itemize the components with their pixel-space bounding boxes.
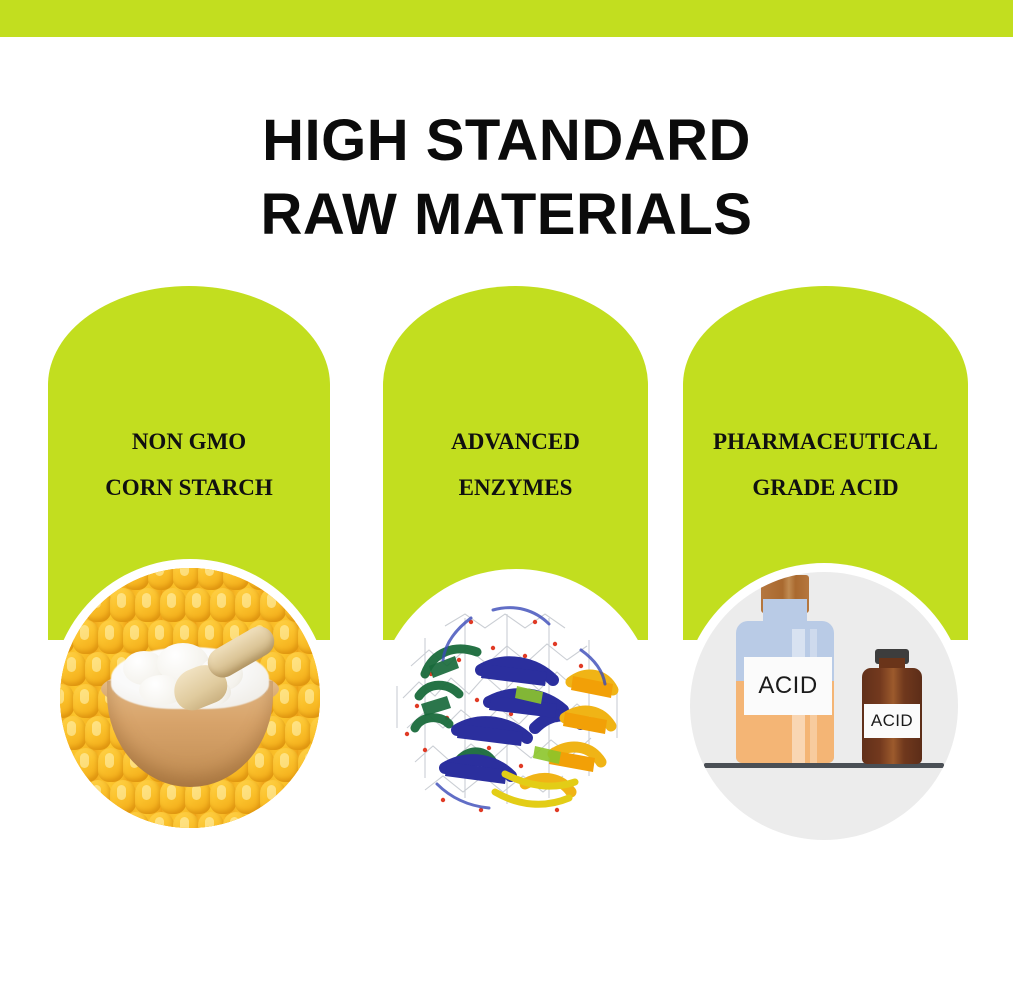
corn-kernel <box>248 812 274 828</box>
corn-kernel <box>85 588 111 622</box>
corn-kernel <box>60 684 74 718</box>
card-label-line-1: NON GMO <box>105 419 273 465</box>
corn-kernel <box>60 588 86 622</box>
corn-kernel <box>60 812 74 828</box>
raw-materials-card-row: NON GMO CORN STARCH ADVANCED ENZYMES PHA… <box>0 286 1013 926</box>
corn-kernel <box>123 812 149 828</box>
card-label-line-1: PHARMACEUTICAL <box>713 419 938 465</box>
corn-kernel <box>298 568 320 590</box>
corn-kernel <box>60 568 74 590</box>
wooden-bowl <box>101 641 279 791</box>
page-title-line-2: RAW MATERIALS <box>0 178 1013 252</box>
corn-kernel <box>148 812 174 828</box>
corn-kernel <box>60 780 86 814</box>
corn-kernel <box>73 620 99 654</box>
corn-kernel <box>73 568 99 590</box>
page-title-line-1: HIGH STANDARD <box>0 104 1013 178</box>
corn-kernel <box>298 620 320 654</box>
corn-kernel <box>298 812 320 828</box>
corn-kernel <box>160 588 186 622</box>
corn-kernel <box>260 588 286 622</box>
small-bottle-label: ACID <box>864 704 920 738</box>
corn-kernel <box>185 588 211 622</box>
large-bottle-label: ACID <box>744 657 832 715</box>
corn-kernel <box>310 652 320 686</box>
corn-kernel <box>235 588 261 622</box>
corn-kernel <box>310 716 320 750</box>
corn-kernel <box>98 812 124 828</box>
corn-kernel <box>273 568 299 590</box>
card-label-line-2: ENZYMES <box>451 465 580 511</box>
corn-kernel <box>60 748 74 782</box>
corn-kernel <box>198 812 224 828</box>
corn-kernel <box>310 780 320 814</box>
image-corn-starch-bowl <box>60 568 320 828</box>
corn-kernel <box>298 684 320 718</box>
corn-kernel <box>273 812 299 828</box>
protein-ribbon-diagram <box>385 578 647 840</box>
small-acid-bottle: ACID <box>862 652 922 764</box>
card-label-line-1: ADVANCED <box>451 419 580 465</box>
corn-kernel <box>310 588 320 622</box>
card-label-line-2: GRADE ACID <box>713 465 938 511</box>
corn-kernel <box>73 812 99 828</box>
corn-kernel <box>98 568 124 590</box>
card-label-advanced-enzymes: ADVANCED ENZYMES <box>451 419 580 511</box>
image-acid-bottles: ACID ACID <box>690 572 958 840</box>
corn-kernel <box>60 620 74 654</box>
image-enzyme-protein-structure <box>385 578 647 840</box>
corn-kernel <box>123 568 149 590</box>
corn-kernel <box>60 652 86 686</box>
corn-kernel <box>285 780 311 814</box>
page-title: HIGH STANDARD RAW MATERIALS <box>0 104 1013 252</box>
card-label-non-gmo-corn-starch: NON GMO CORN STARCH <box>105 419 273 511</box>
corn-kernel <box>73 684 99 718</box>
large-acid-bottle: ACID <box>736 595 834 763</box>
corn-kernel <box>223 812 249 828</box>
corn-kernel <box>285 716 311 750</box>
corn-kernel <box>135 588 161 622</box>
corn-kernel <box>248 568 274 590</box>
corn-kernel <box>198 568 224 590</box>
corn-kernel <box>173 812 199 828</box>
card-label-line-2: CORN STARCH <box>105 465 273 511</box>
corn-kernel <box>73 748 99 782</box>
corn-kernel <box>285 652 311 686</box>
corn-kernel <box>210 588 236 622</box>
card-label-pharmaceutical-grade-acid: PHARMACEUTICAL GRADE ACID <box>713 419 938 511</box>
top-accent-bar <box>0 0 1013 37</box>
corn-kernel <box>173 568 199 590</box>
corn-kernel <box>298 748 320 782</box>
corn-kernel <box>223 568 249 590</box>
corn-kernel <box>285 588 311 622</box>
corn-kernel <box>60 716 86 750</box>
corn-kernel <box>148 568 174 590</box>
corn-kernel <box>110 588 136 622</box>
